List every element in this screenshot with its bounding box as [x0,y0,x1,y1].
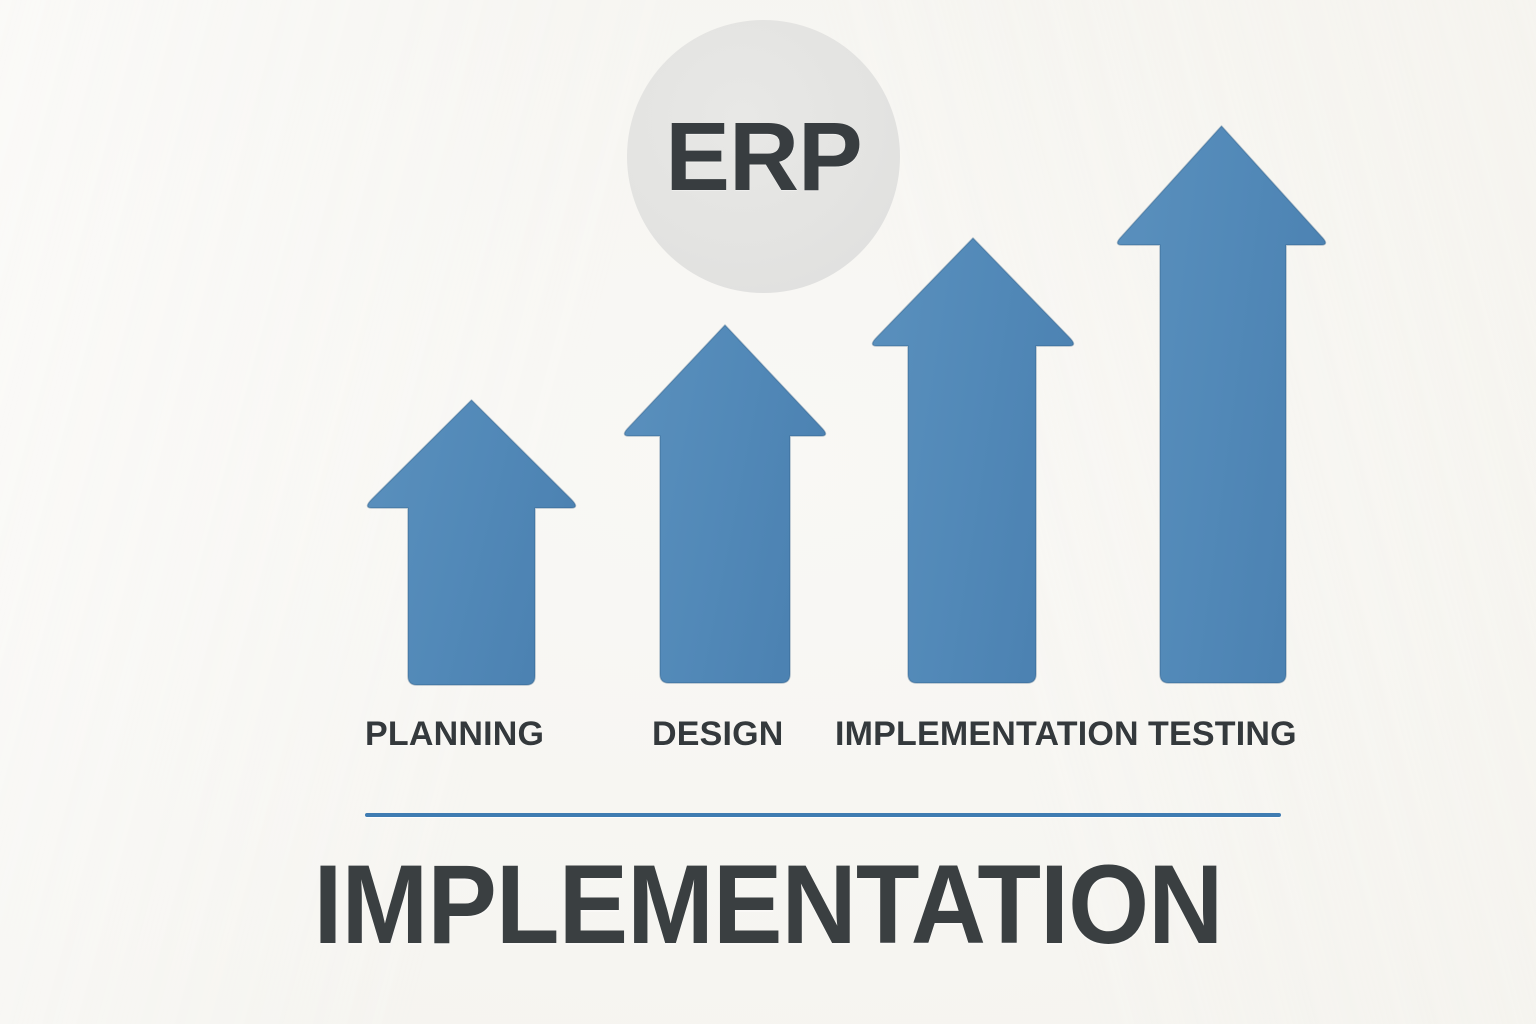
horizontal-divider [365,813,1281,817]
arrow-design [625,325,826,683]
arrow-planning [368,400,576,685]
stage-label-implementation: IMPLEMENTATION [835,714,1142,754]
stage-label-row: PLANNING DESIGN IMPLEMENTATION TESTING [0,714,1536,766]
arrow-testing [1118,126,1326,683]
stage-label-planning: PLANNING [365,714,544,754]
arrow-implementation [873,238,1074,683]
stage-label-design: DESIGN [652,714,784,754]
stage-label-testing: TESTING [1148,714,1297,754]
footer-title: IMPLEMENTATION [54,845,1482,965]
